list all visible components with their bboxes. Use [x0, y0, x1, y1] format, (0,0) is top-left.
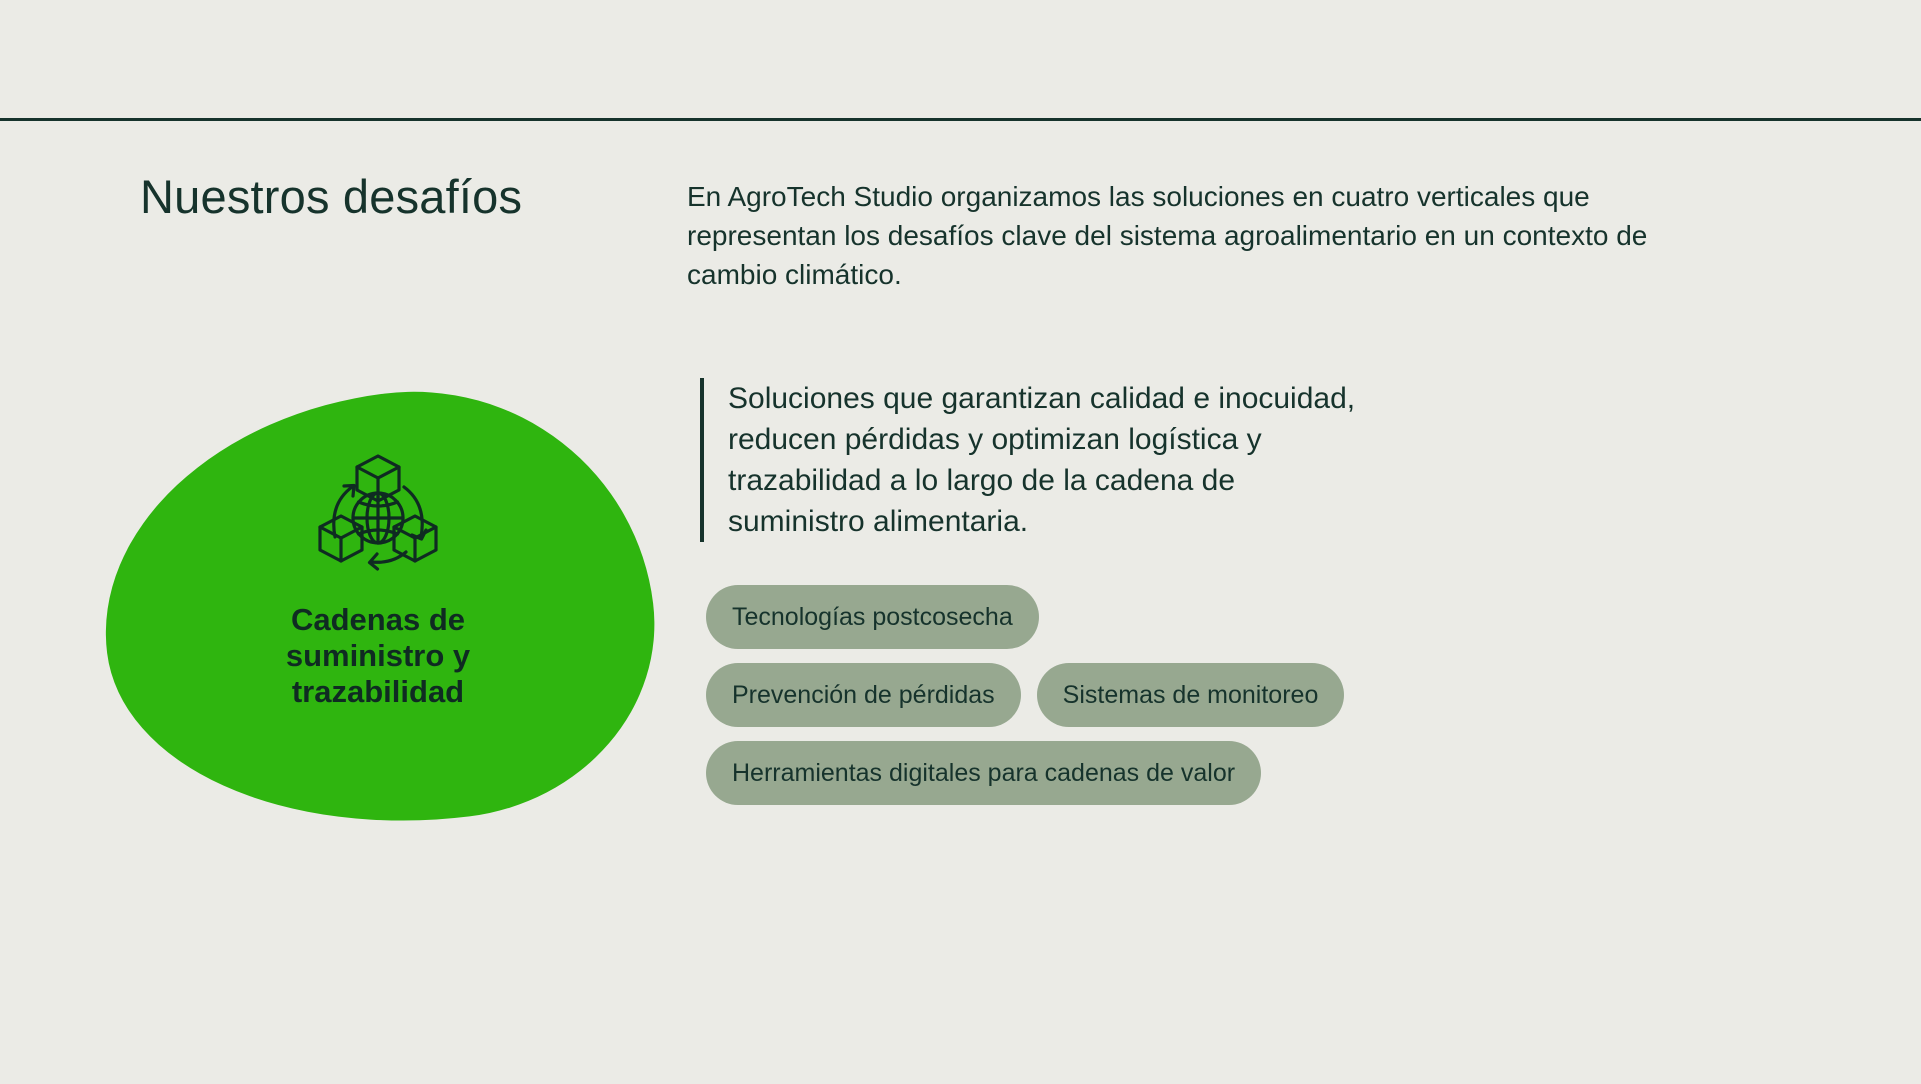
tag-pill[interactable]: Sistemas de monitoreo [1037, 663, 1345, 727]
vertical-card-content: Cadenas de suministro y trazabilidad [104, 396, 652, 826]
vertical-card[interactable]: Cadenas de suministro y trazabilidad [104, 396, 652, 826]
tag-pill[interactable]: Tecnologías postcosecha [706, 585, 1039, 649]
tag-row: Prevención de pérdidas Sistemas de monit… [706, 663, 1506, 727]
slide-canvas: Nuestros desafíos En AgroTech Studio org… [0, 0, 1921, 1084]
intro-paragraph: En AgroTech Studio organizamos las soluc… [687, 177, 1717, 294]
header-divider [0, 118, 1921, 121]
tag-row: Tecnologías postcosecha [706, 585, 1506, 649]
accent-bar [700, 378, 704, 542]
detail-description-block: Soluciones que garantizan calidad e inoc… [700, 378, 1380, 542]
tag-pill[interactable]: Prevención de pérdidas [706, 663, 1021, 727]
supply-chain-globe-icon [314, 452, 442, 578]
detail-description: Soluciones que garantizan calidad e inoc… [728, 378, 1380, 542]
vertical-card-label: Cadenas de suministro y trazabilidad [213, 602, 543, 710]
tag-list: Tecnologías postcosecha Prevención de pé… [706, 585, 1506, 819]
page-title: Nuestros desafíos [140, 172, 660, 221]
tag-row: Herramientas digitales para cadenas de v… [706, 741, 1506, 805]
tag-pill[interactable]: Herramientas digitales para cadenas de v… [706, 741, 1261, 805]
